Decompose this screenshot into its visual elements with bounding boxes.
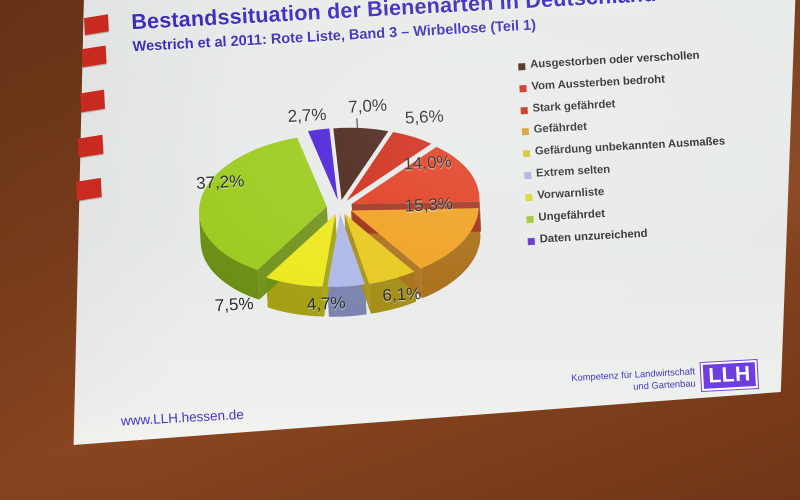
legend-swatch-icon xyxy=(528,237,535,244)
title-block: Bestandssituation der Bienenarten in Deu… xyxy=(131,0,753,55)
legend-item: Stark gefährdet xyxy=(520,91,750,117)
chart-legend: Ausgestorben oder verschollenVom Ausster… xyxy=(518,47,758,256)
legend-swatch-icon xyxy=(524,172,531,179)
legend-swatch-icon xyxy=(523,150,530,157)
decoration-chip xyxy=(84,14,109,35)
photo-of-projected-slide: Bestandssituation der Bienenarten in Deu… xyxy=(0,0,800,500)
legend-item: Gefärdung unbekannten Ausmaßes xyxy=(523,134,753,160)
pie-data-label: 4,7% xyxy=(306,293,346,315)
legend-swatch-icon xyxy=(518,63,525,70)
brand-tagline: Kompetenz für Landwirtschaft und Gartenb… xyxy=(571,365,696,396)
pie-data-label: 2,7% xyxy=(287,105,327,127)
pie-data-label: 5,6% xyxy=(404,107,444,129)
legend-item: Vorwarnliste xyxy=(525,178,755,204)
decoration-chip xyxy=(80,90,105,113)
pie-data-label: 7,5% xyxy=(214,294,254,316)
pie-label-leader-line xyxy=(357,118,358,130)
decoration-chip xyxy=(82,45,107,67)
decoration-chip xyxy=(78,135,104,158)
pie-data-label: 15,3% xyxy=(404,194,453,217)
pie-data-label: 14,0% xyxy=(403,152,452,175)
legend-item: Ausgestorben oder verschollen xyxy=(518,47,748,73)
llh-logo: LLH xyxy=(701,360,759,391)
legend-item-label: Gefährdet xyxy=(533,121,587,137)
legend-swatch-icon xyxy=(519,85,526,92)
pie-data-label: 7,0% xyxy=(348,96,388,118)
legend-item-label: Extrem selten xyxy=(536,164,611,181)
legend-swatch-icon xyxy=(521,107,528,114)
decoration-chip xyxy=(76,178,102,201)
pie-data-label: 37,2% xyxy=(196,171,245,194)
legend-item: Gefährdet xyxy=(521,112,751,138)
legend-swatch-icon xyxy=(522,128,529,135)
legend-item: Vom Aussterben bedroht xyxy=(519,69,749,95)
footer-url[interactable]: www.LLH.hessen.de xyxy=(120,407,244,429)
slide-content: Bestandssituation der Bienenarten in Deu… xyxy=(0,0,800,500)
legend-item: Daten unzureichend xyxy=(527,221,757,247)
legend-item-label: Vom Aussterben bedroht xyxy=(531,73,665,94)
pie-chart: 2,7%7,0%5,6%14,0%15,3%6,1%4,7%7,5%37,2% xyxy=(164,90,516,338)
legend-item: Ungefährdet xyxy=(526,200,756,226)
legend-swatch-icon xyxy=(526,216,533,223)
legend-item-label: Daten unzureichend xyxy=(539,227,648,246)
legend-item-label: Vorwarnliste xyxy=(537,186,605,203)
footer-brand: Kompetenz für Landwirtschaft und Gartenb… xyxy=(571,360,759,398)
legend-item: Extrem selten xyxy=(524,156,754,182)
legend-item-label: Gefärdung unbekannten Ausmaßes xyxy=(535,136,726,160)
legend-item-label: Ausgestorben oder verschollen xyxy=(530,50,700,72)
legend-item-label: Ungefährdet xyxy=(538,208,605,225)
legend-item-label: Stark gefährdet xyxy=(532,98,615,116)
legend-swatch-icon xyxy=(525,194,532,201)
pie-data-label: 6,1% xyxy=(382,284,422,306)
